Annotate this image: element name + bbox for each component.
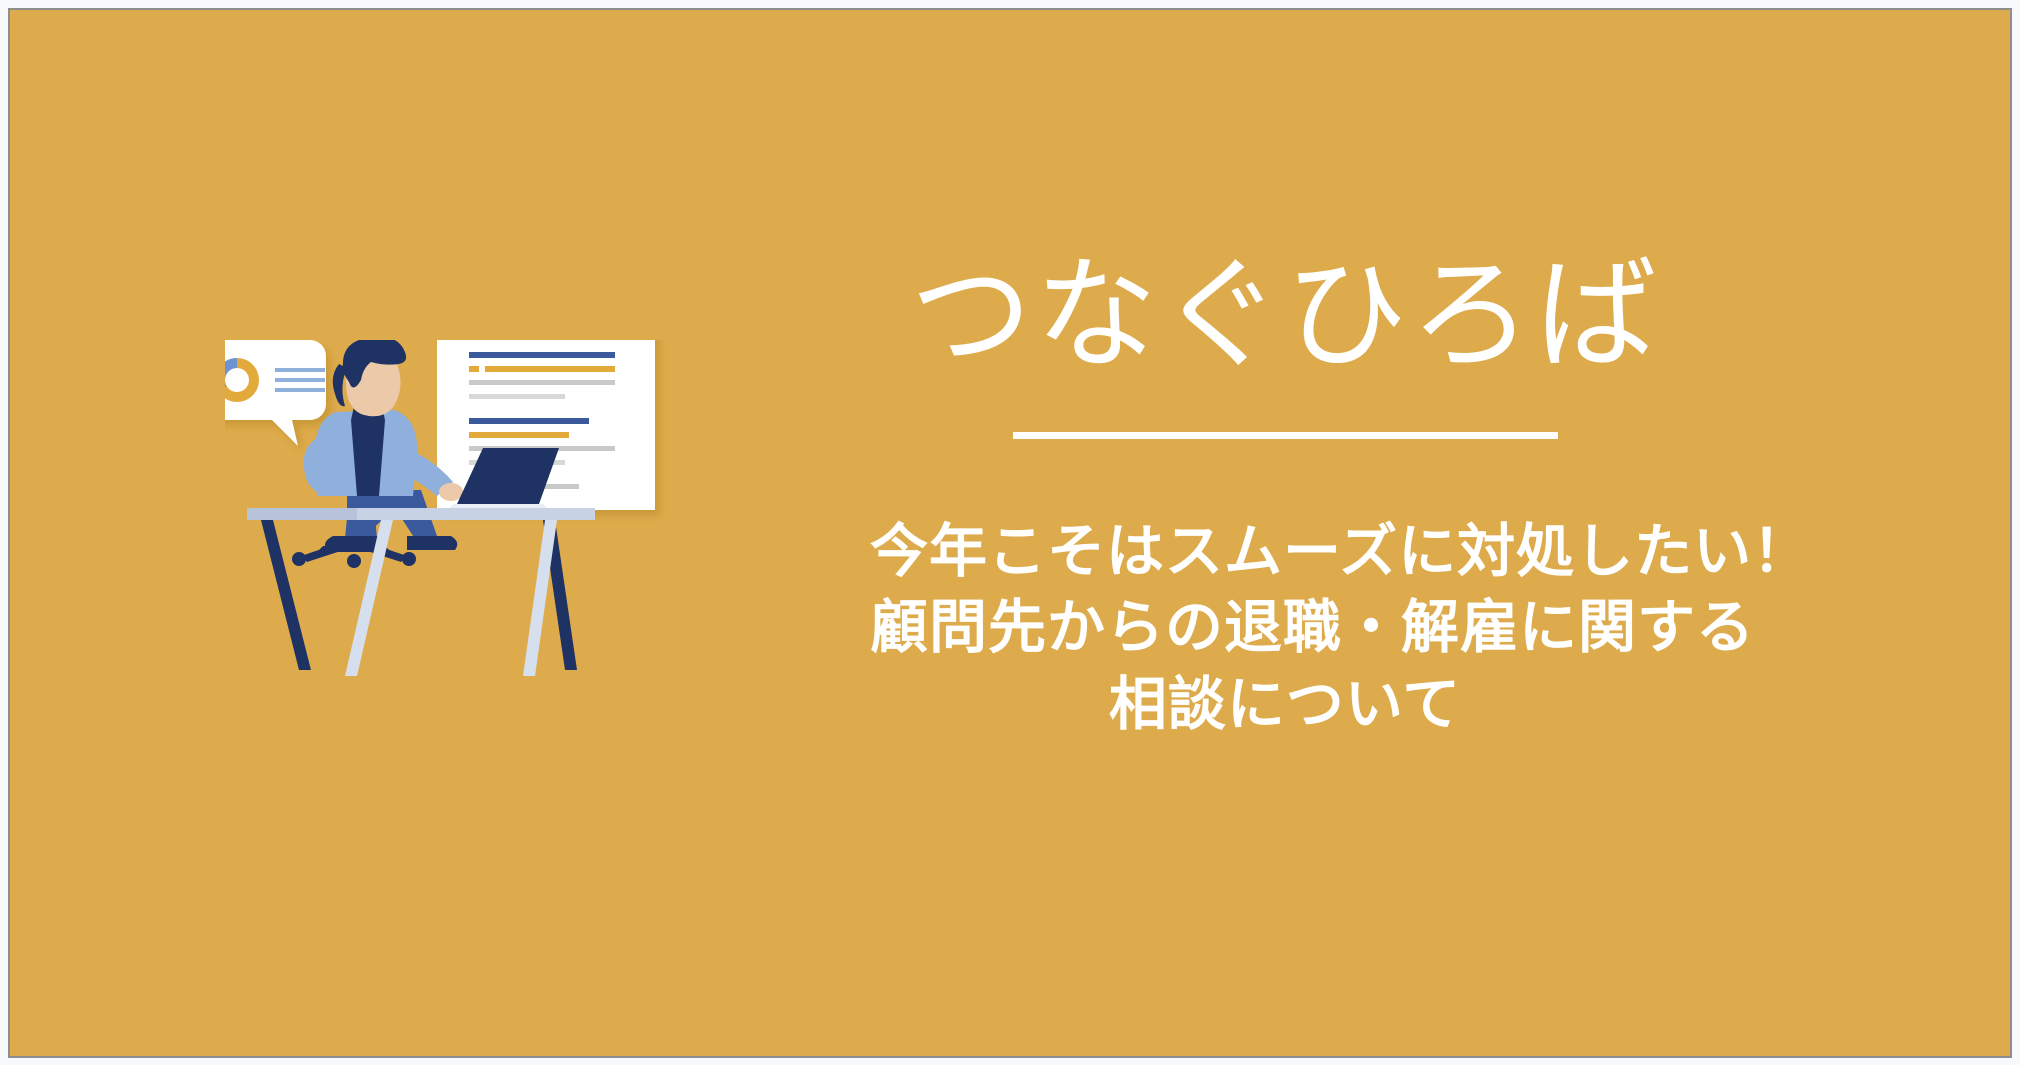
bubble-text-lines (275, 368, 325, 392)
subtitle-line-2: 顧問先からの退職・解雇に関する (870, 590, 1700, 667)
scarf-icon (351, 402, 385, 496)
desk-leg-navy (261, 520, 311, 670)
subtitle-block: 今年こそはスムーズに対処したい！ 顧問先からの退職・解雇に関する 相談について (870, 514, 1700, 744)
illustration-person-at-desk (225, 340, 875, 740)
title-text-block: つなぐひろば 今年こそはスムーズに対処したい！ 顧問先からの退職・解雇に関する … (870, 250, 1700, 743)
page-title: つなぐひろば (870, 250, 1700, 382)
illustration-svg (225, 340, 875, 740)
desk-leg-light-right (523, 520, 557, 676)
slide-outer-frame: つなぐひろば 今年こそはスムーズに対処したい！ 顧問先からの退職・解雇に関する … (0, 0, 2020, 1065)
shoe-right-icon (407, 536, 457, 550)
hand-icon (439, 483, 463, 501)
title-divider (1013, 432, 1558, 439)
chat-bubble-with-donut-chart (225, 340, 326, 446)
slide-canvas: つなぐひろば 今年こそはスムーズに対処したい！ 顧問先からの退職・解雇に関する … (8, 8, 2012, 1058)
subtitle-line-1: 今年こそはスムーズに対処したい！ (870, 514, 1700, 591)
subtitle-line-3: 相談について (870, 667, 1700, 744)
shoe-left-icon (325, 536, 379, 550)
